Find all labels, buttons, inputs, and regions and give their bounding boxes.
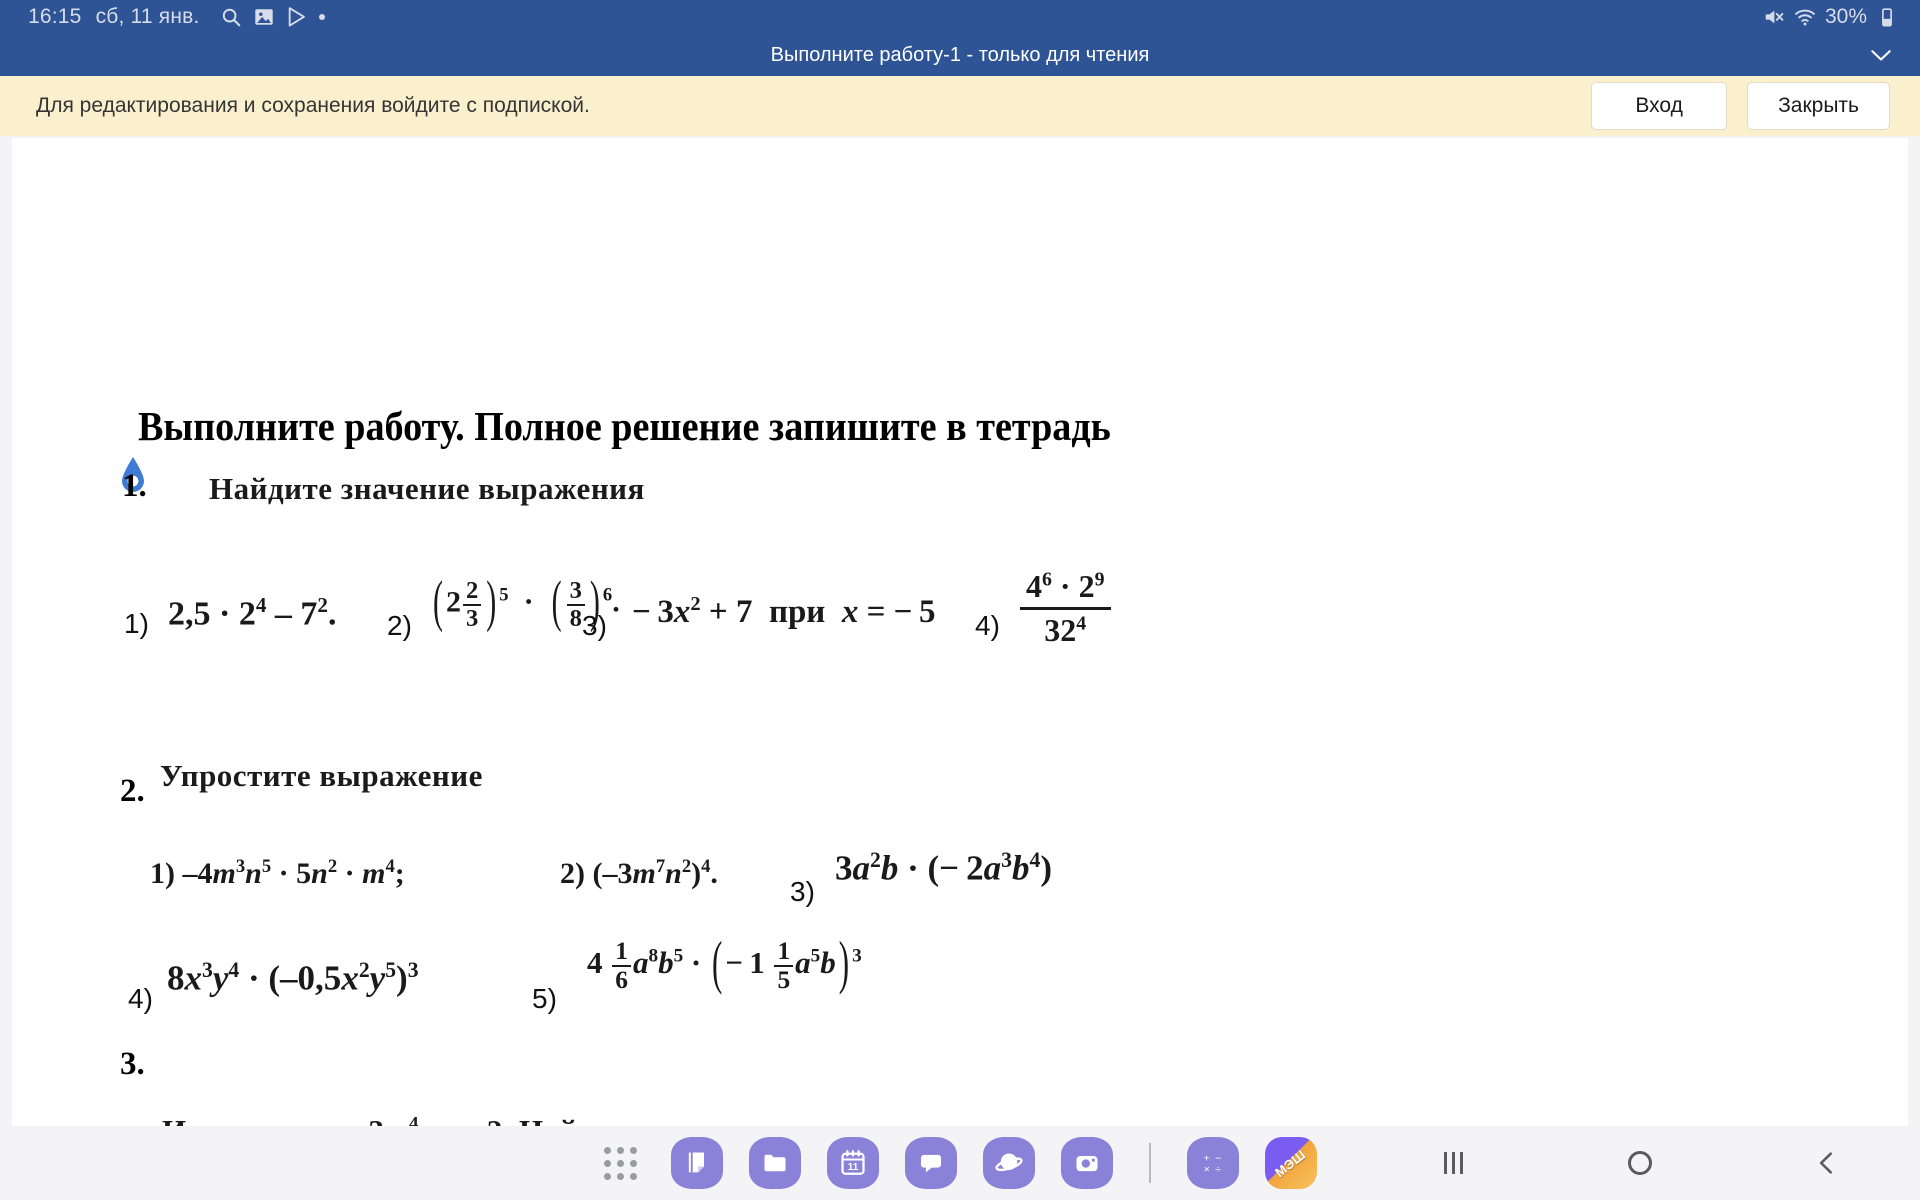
banner-actions: Вход Закрыть <box>1591 82 1890 130</box>
calculator-glyph-icon: + − × ÷ <box>1199 1149 1227 1177</box>
task-3-text-line-1: Известно, что 3m4n = –2. Найдите значени… <box>162 1113 873 1126</box>
mute-icon <box>1763 6 1785 28</box>
status-clock: 16:15 <box>28 5 82 29</box>
svg-text:×: × <box>1203 1163 1209 1175</box>
planet-glyph-icon <box>994 1148 1024 1178</box>
document-title: Выполните работу-1 - только для чтения <box>771 44 1150 67</box>
mel-app-icon[interactable]: МЭШ <box>1265 1137 1317 1189</box>
search-icon <box>220 6 242 28</box>
notes-glyph-icon <box>683 1149 711 1177</box>
task-2-item-4-expr: 8x3y4 · (–0,5x2y5)3 <box>167 958 419 999</box>
status-notification-icons <box>220 6 325 28</box>
task-2-item-5-label: 5) <box>532 983 557 1015</box>
home-icon <box>1628 1151 1652 1175</box>
battery-percent-label: 30% <box>1825 5 1867 29</box>
status-bar-right: 30% <box>1763 5 1898 29</box>
files-app-icon[interactable] <box>749 1137 801 1189</box>
dot-indicator-icon <box>319 14 325 20</box>
camera-glyph-icon <box>1073 1149 1101 1177</box>
task-1-item-3-expr: − 3x2 + 7 при x = − 5 <box>632 593 936 631</box>
camera-app-icon[interactable] <box>1061 1137 1113 1189</box>
task-1-item-3-label: 3) <box>582 610 607 642</box>
apps-grid-icon[interactable] <box>604 1147 637 1180</box>
close-button[interactable]: Закрыть <box>1747 82 1890 130</box>
task-2-item-4-label: 4) <box>128 983 153 1015</box>
home-nav-button[interactable] <box>1595 1126 1685 1200</box>
task-2-item-1: 1) –4m3n5 · 5n2 · m4; <box>150 856 405 891</box>
calendar-app-icon[interactable]: 11 <box>827 1137 879 1189</box>
page-title: Выполните работу. Полное решение запишит… <box>138 402 1111 450</box>
task-2-item-5-expr: 4 16a8b5 · (− 1 15a5b)3 <box>587 938 862 993</box>
task-1-item-4-expr: 46 · 29 324 <box>1020 568 1111 649</box>
taskbar-apps: 11 <box>604 1137 1317 1189</box>
calculator-app-icon[interactable]: + − × ÷ <box>1187 1137 1239 1189</box>
document-page[interactable]: Выполните работу. Полное решение запишит… <box>12 138 1908 1126</box>
task-1-item-1-expr: 2,5 · 24 – 72. <box>168 593 336 633</box>
status-bar-left: 16:15 сб, 11 янв. <box>28 5 325 29</box>
task-2-item-2: 2) (–3m7n2)4. <box>560 856 718 891</box>
back-icon <box>1814 1150 1840 1176</box>
task-1-title: Найдите значение выражения <box>209 471 645 507</box>
android-document-viewer: 16:15 сб, 11 янв. <box>0 0 1920 1200</box>
gallery-icon <box>253 6 275 28</box>
notes-app-icon[interactable] <box>671 1137 723 1189</box>
task-2-item-3-label: 3) <box>790 876 815 908</box>
subscription-banner: Для редактирования и сохранения войдите … <box>0 76 1920 136</box>
recents-nav-button[interactable] <box>1408 1126 1498 1200</box>
calendar-glyph-icon: 11 <box>838 1148 868 1178</box>
task-3-number: 3. <box>120 1046 145 1083</box>
task-1-item-2-label: 2) <box>387 610 412 642</box>
task-1-number: 1. <box>122 468 147 505</box>
taskbar: 11 <box>0 1126 1920 1200</box>
task-2-title: Упростите выражение <box>160 758 483 794</box>
recents-icon <box>1444 1152 1463 1174</box>
chat-bubble-glyph-icon <box>917 1149 945 1177</box>
svg-text:÷: ÷ <box>1215 1163 1221 1175</box>
play-store-icon <box>286 6 308 28</box>
status-date: сб, 11 янв. <box>96 5 200 29</box>
internet-app-icon[interactable] <box>983 1137 1035 1189</box>
task-2-number: 2. <box>120 773 145 810</box>
task-1-item-1-label: 1) <box>124 608 149 640</box>
battery-icon <box>1876 6 1898 28</box>
navigation-bar <box>1360 1126 1920 1200</box>
folder-glyph-icon <box>761 1149 789 1177</box>
taskbar-divider <box>1149 1143 1151 1183</box>
task-1-item-4-label: 4) <box>975 610 1000 642</box>
window-title-bar: Выполните работу-1 - только для чтения <box>0 34 1920 76</box>
svg-text:11: 11 <box>847 1162 858 1173</box>
wifi-icon <box>1794 6 1816 28</box>
banner-message: Для редактирования и сохранения войдите … <box>36 94 590 118</box>
login-button[interactable]: Вход <box>1591 82 1727 130</box>
mel-app-label: МЭШ <box>1272 1146 1309 1179</box>
back-nav-button[interactable] <box>1782 1126 1872 1200</box>
task-2-item-3-expr: 3a2b · (− 2a3b4) <box>835 848 1052 889</box>
messages-app-icon[interactable] <box>905 1137 957 1189</box>
status-bar: 16:15 сб, 11 янв. <box>0 0 1920 34</box>
chevron-down-icon[interactable] <box>1868 42 1894 68</box>
